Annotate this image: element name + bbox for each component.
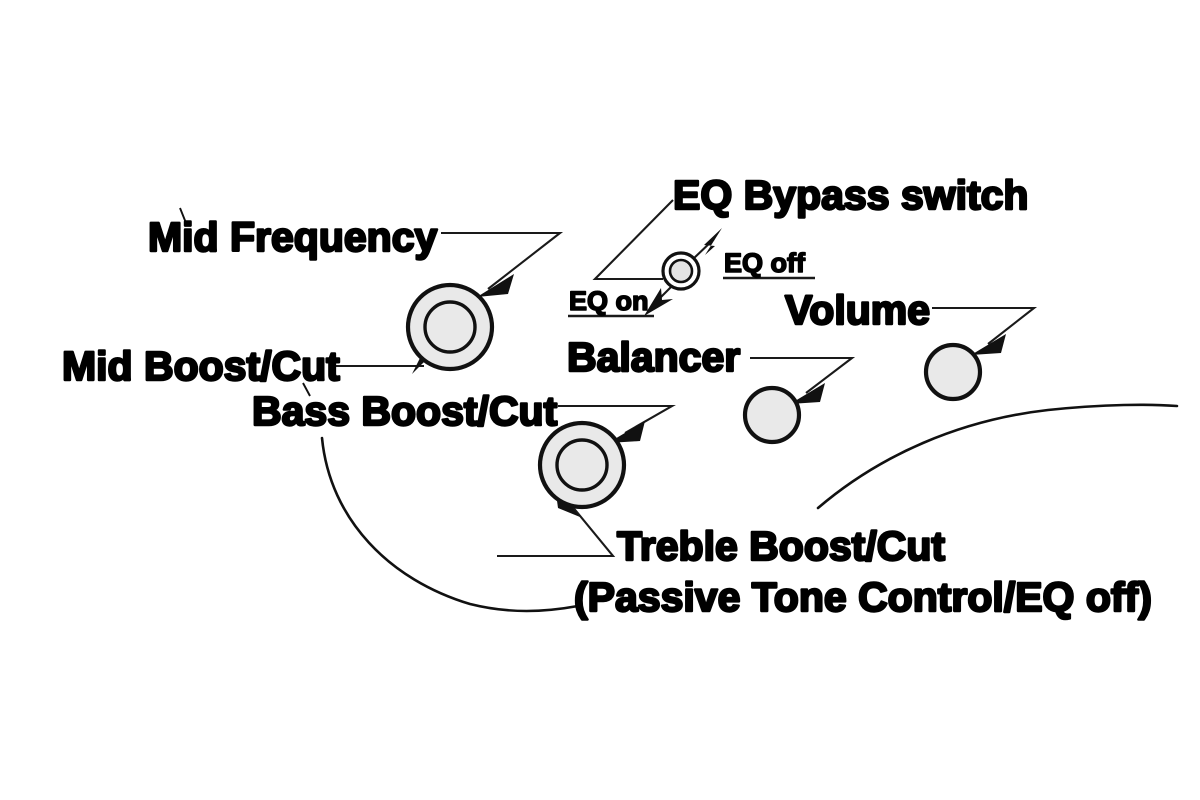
leader-eq-bypass-switch [595,200,673,279]
label-treble-subtitle: (Passive Tone Control/EQ off) [574,574,1152,620]
label-volume: Volume [785,287,930,333]
volume-knob[interactable] [926,345,980,399]
label-eq-on: EQ on [569,286,649,316]
arrowhead-eq-off [704,228,722,255]
balancer-knob[interactable] [745,388,799,442]
diagram-canvas: Mid Frequency Mid Boost/Cut Bass Boost/C… [0,0,1200,800]
label-balancer: Balancer [567,334,740,380]
bass-treble-knob[interactable] [540,423,624,507]
label-eq-off: EQ off [724,248,806,278]
label-treble-boost-cut: Treble Boost/Cut [617,523,945,569]
leader-line-mid-frequency [441,233,560,289]
eq-bypass-switch-core[interactable] [670,260,692,282]
leader-line-treble-boost-cut [497,500,613,556]
label-mid-frequency: Mid Frequency [148,214,438,260]
eq-bypass-switch[interactable] [663,253,699,289]
arrowhead-volume [971,334,1006,355]
mid-knob-inner-ring[interactable] [425,302,475,352]
leader-line-eq-bypass-switch [595,200,673,279]
mid-knob[interactable] [408,285,492,369]
body-curve-right [818,405,1177,508]
bass-treble-knob-inner-ring[interactable] [557,440,607,490]
arrowhead-mid-frequency-solid [477,274,514,297]
label-bass-boost-cut: Bass Boost/Cut [252,388,558,434]
leader-eq-off [692,228,722,260]
control-layout-diagram: Mid Frequency Mid Boost/Cut Bass Boost/C… [0,0,1200,800]
leader-line-volume [932,308,1034,344]
label-eq-bypass-switch: EQ Bypass switch [673,172,1028,218]
label-mid-boost-cut: Mid Boost/Cut [62,343,340,389]
